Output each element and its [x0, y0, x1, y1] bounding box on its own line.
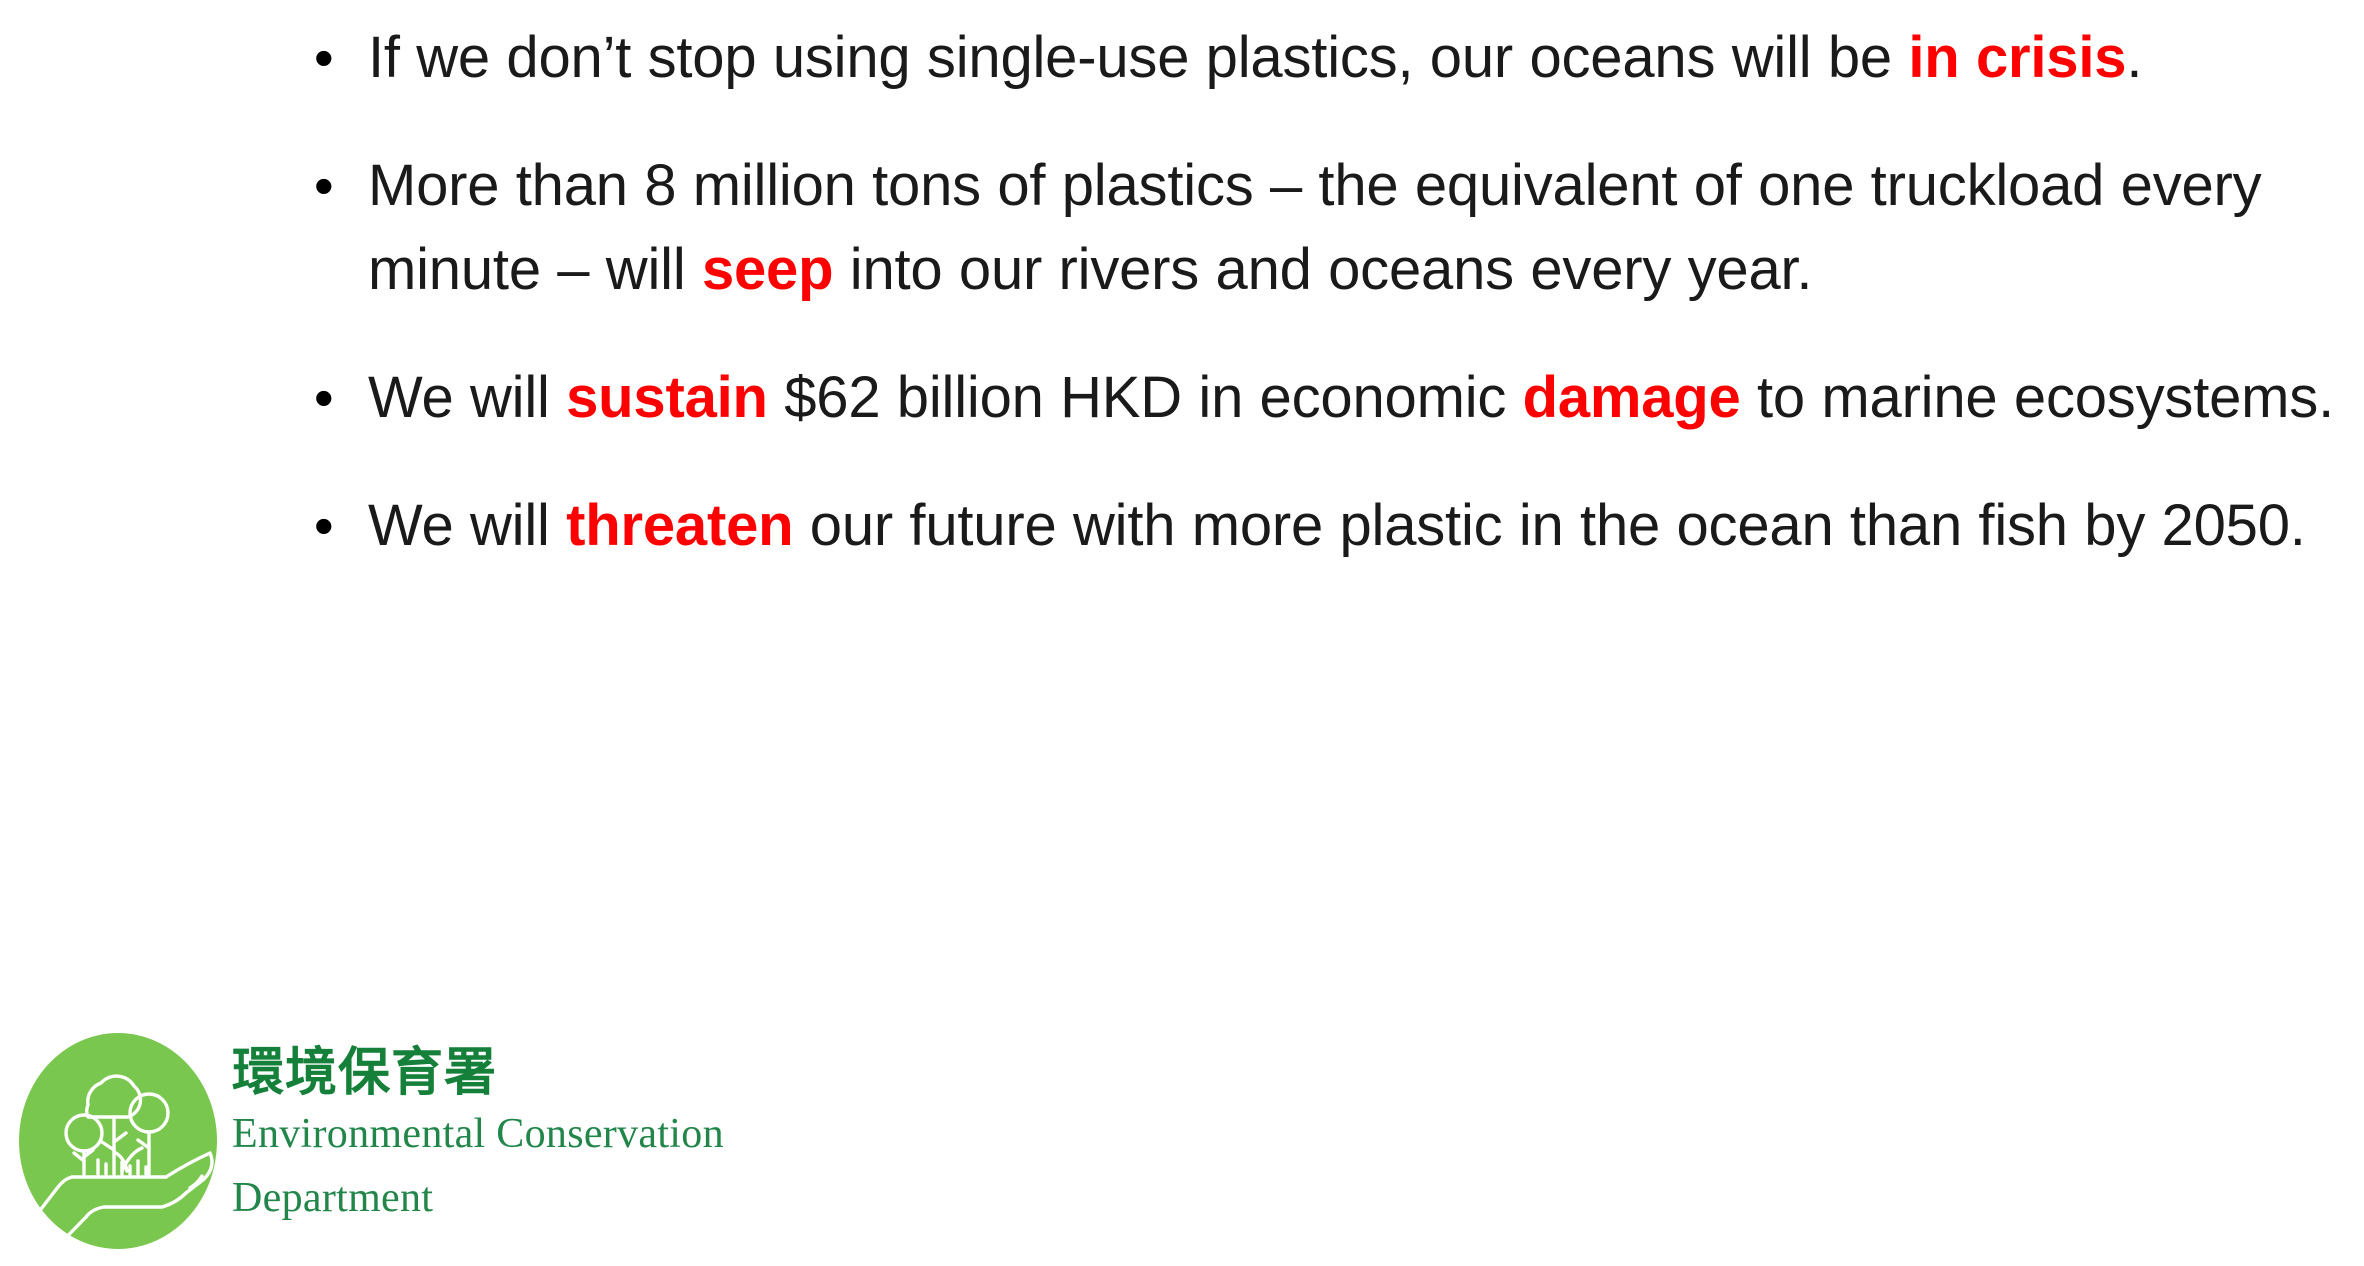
- bullet-segment-text: If we don’t stop using single-use plasti…: [368, 25, 1908, 90]
- bullet-segment-highlight: sustain: [566, 365, 768, 430]
- bullet-point-icon: •: [300, 356, 368, 440]
- bullet-item-oceans-in-crisis: • If we don’t stop using single-use plas…: [300, 16, 2340, 100]
- bullet-segment-highlight: threaten: [566, 493, 793, 558]
- bullet-point-icon: •: [300, 484, 368, 568]
- bullet-text-oceans-in-crisis: If we don’t stop using single-use plasti…: [368, 16, 2340, 100]
- bullet-point-icon: •: [300, 16, 368, 100]
- bullet-item-plastic-than-fish: • We will threaten our future with more …: [300, 484, 2340, 568]
- bullet-segment-text: $62 billion HKD in economic: [768, 365, 1523, 430]
- bullet-segment-highlight: seep: [702, 237, 833, 302]
- organization-name-chinese: 環境保育署: [232, 1044, 724, 1102]
- bullet-segment-text: We will: [368, 493, 566, 558]
- organization-logo: 環境保育署 Environmental Conservation Departm…: [14, 1030, 724, 1252]
- bullet-segment-highlight: in crisis: [1908, 25, 2126, 90]
- bullet-segment-highlight: damage: [1523, 365, 1741, 430]
- slide-canvas: • If we don’t stop using single-use plas…: [0, 0, 2364, 1266]
- bullet-segment-text: into our rivers and oceans every year.: [833, 237, 1812, 302]
- organization-name-block: 環境保育署 Environmental Conservation Departm…: [232, 1030, 724, 1230]
- bullet-segment-text: to marine ecosystems.: [1741, 365, 2334, 430]
- bullet-segment-text: our future with more plastic in the ocea…: [793, 493, 2305, 558]
- bullet-item-eight-million-tons: • More than 8 million tons of plastics –…: [300, 144, 2340, 312]
- organization-name-english-line1: Environmental Conservation: [232, 1102, 724, 1166]
- bullet-text-economic-damage: We will sustain $62 billion HKD in econo…: [368, 356, 2340, 440]
- hand-holding-trees-icon: [14, 1030, 222, 1252]
- bullet-text-eight-million-tons: More than 8 million tons of plastics – t…: [368, 144, 2340, 312]
- bullet-item-economic-damage: • We will sustain $62 billion HKD in eco…: [300, 356, 2340, 440]
- bullet-segment-text: We will: [368, 365, 566, 430]
- bullet-segment-text: .: [2126, 25, 2142, 90]
- organization-name-english-line2: Department: [232, 1166, 724, 1230]
- bullet-text-plastic-than-fish: We will threaten our future with more pl…: [368, 484, 2340, 568]
- bullet-list: • If we don’t stop using single-use plas…: [300, 0, 2340, 612]
- bullet-point-icon: •: [300, 144, 368, 228]
